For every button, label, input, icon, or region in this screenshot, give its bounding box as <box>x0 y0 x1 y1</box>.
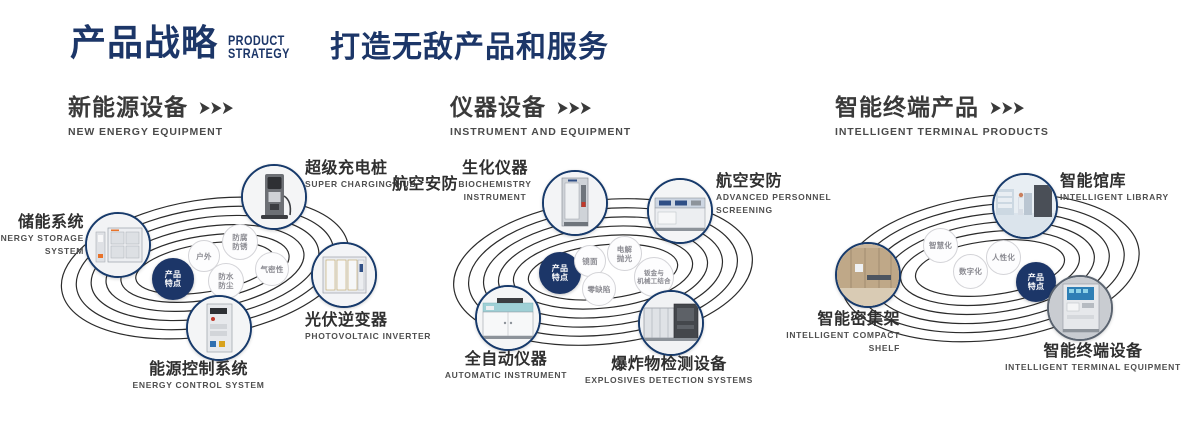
chevron-right-icon: ➤➤➤ <box>989 98 1024 119</box>
caption-energy-storage: 储能系统 ENERGY STORAGE SYSTEM <box>0 213 84 257</box>
headline: 打造无敌产品和服务 <box>330 33 609 63</box>
feature-bubble-airtight: 气密性 <box>255 252 289 286</box>
section-title-cn: 仪器设备 <box>450 96 546 121</box>
node-intelligent-terminal-equipment[interactable] <box>1047 275 1113 341</box>
core-label-line2: 特点 <box>165 279 181 289</box>
caption-intelligent-compact-shelf: 智能密集架 INTELLIGENT COMPACT SHELF <box>740 310 900 354</box>
node-intelligent-compact-shelf[interactable] <box>835 242 901 308</box>
caption-en-line2: SYSTEM <box>0 246 84 257</box>
section-title-instrument: 仪器设备 ➤➤➤ INSTRUMENT AND EQUIPMENT <box>450 96 631 138</box>
core-label-line1: 产品 <box>165 270 181 280</box>
caption-intelligent-terminal-equipment: 智能终端设备 INTELLIGENT TERMINAL EQUIPMENT <box>986 342 1200 373</box>
caption-automatic-instrument: 全自动仪器 AUTOMATIC INSTRUMENT <box>396 350 616 381</box>
feature-bubble-humanization: 人性化 <box>986 240 1021 275</box>
control-cabinet-icon <box>188 297 250 359</box>
charging-pile-icon <box>243 166 305 228</box>
section-title-cn: 新能源设备 <box>68 96 188 121</box>
caption-intelligent-library: 智能馆库 INTELLIGENT LIBRARY <box>1060 172 1169 203</box>
node-pv-inverter[interactable] <box>311 242 377 308</box>
feature-bubble-waterproof: 防水 防尘 <box>208 263 244 299</box>
node-advanced-personnel-screening[interactable] <box>647 178 713 244</box>
page-title: 产品战略 <box>70 26 218 62</box>
node-explosives-detection[interactable] <box>638 290 704 356</box>
compact-shelf-icon <box>837 244 899 306</box>
chevron-right-icon: ➤➤➤ <box>556 98 591 119</box>
automatic-instrument-icon <box>477 287 539 349</box>
brand-subtitle-en: PRODUCT STRATEGY <box>228 34 290 60</box>
page-header: 产品战略 PRODUCT STRATEGY 打造无敌产品和服务 <box>0 0 1200 82</box>
caption-energy-control: 能源控制系统 ENERGY CONTROL SYSTEM <box>86 360 311 391</box>
section-title-en: INSTRUMENT AND EQUIPMENT <box>450 126 631 138</box>
diagram-instrument: 产品 特点 镜面 电解 抛光 零缺陷 钣金与 机械工结合 <box>398 150 818 405</box>
node-automatic-instrument[interactable] <box>475 285 541 351</box>
feature-bubble-digitalization: 数字化 <box>953 254 988 289</box>
core-label-line2: 特点 <box>1028 282 1044 292</box>
brand-subtitle-line2: STRATEGY <box>228 47 290 60</box>
core-label-line1: 产品 <box>552 264 568 274</box>
core-label-line2: 特点 <box>552 273 568 283</box>
pv-inverter-icon <box>313 244 375 306</box>
node-charging-hub[interactable] <box>241 164 307 230</box>
product-strategy-infographic: 产品战略 PRODUCT STRATEGY 打造无敌产品和服务 新能源设备 ➤➤… <box>0 0 1200 422</box>
node-intelligent-library[interactable] <box>992 173 1058 239</box>
chevron-right-icon: ➤➤➤ <box>198 98 233 119</box>
caption-en-line1: ENERGY STORAGE <box>0 233 84 244</box>
core-label-line1: 产品 <box>1028 273 1044 283</box>
section-title-en: INTELLIGENT TERMINAL PRODUCTS <box>835 126 1049 138</box>
node-energy-storage[interactable] <box>85 212 151 278</box>
section-title-en: NEW ENERGY EQUIPMENT <box>68 126 233 138</box>
terminal-kiosk-icon <box>1049 277 1111 339</box>
diagram-intelligent-terminal: 智慧化 数字化 人性化 产品 特点 <box>790 150 1200 405</box>
feature-bubble-zero-defect: 零缺陷 <box>582 272 616 306</box>
biochem-scanner-icon <box>544 172 606 234</box>
section-title-intelligent-terminal: 智能终端产品 ➤➤➤ INTELLIGENT TERMINAL PRODUCTS <box>835 96 1049 138</box>
node-biochemistry-instrument[interactable] <box>542 170 608 236</box>
library-room-icon <box>994 175 1056 237</box>
caption-aviation-security-secondary: 航空安防 <box>336 175 458 193</box>
brand-lockup: 产品战略 PRODUCT STRATEGY <box>70 26 307 62</box>
screening-machine-icon <box>649 180 711 242</box>
explosive-detector-icon <box>640 292 702 354</box>
feature-bubble-anticorrosion: 防腐 防锈 <box>222 224 258 260</box>
feature-bubble-intelligence: 智慧化 <box>923 228 958 263</box>
energy-storage-cabinet-icon <box>87 214 149 276</box>
feature-core-bubble: 产品 特点 <box>152 258 194 300</box>
section-title-new-energy: 新能源设备 ➤➤➤ NEW ENERGY EQUIPMENT <box>68 96 233 138</box>
section-title-cn: 智能终端产品 <box>835 96 979 121</box>
node-energy-control[interactable] <box>186 295 252 361</box>
